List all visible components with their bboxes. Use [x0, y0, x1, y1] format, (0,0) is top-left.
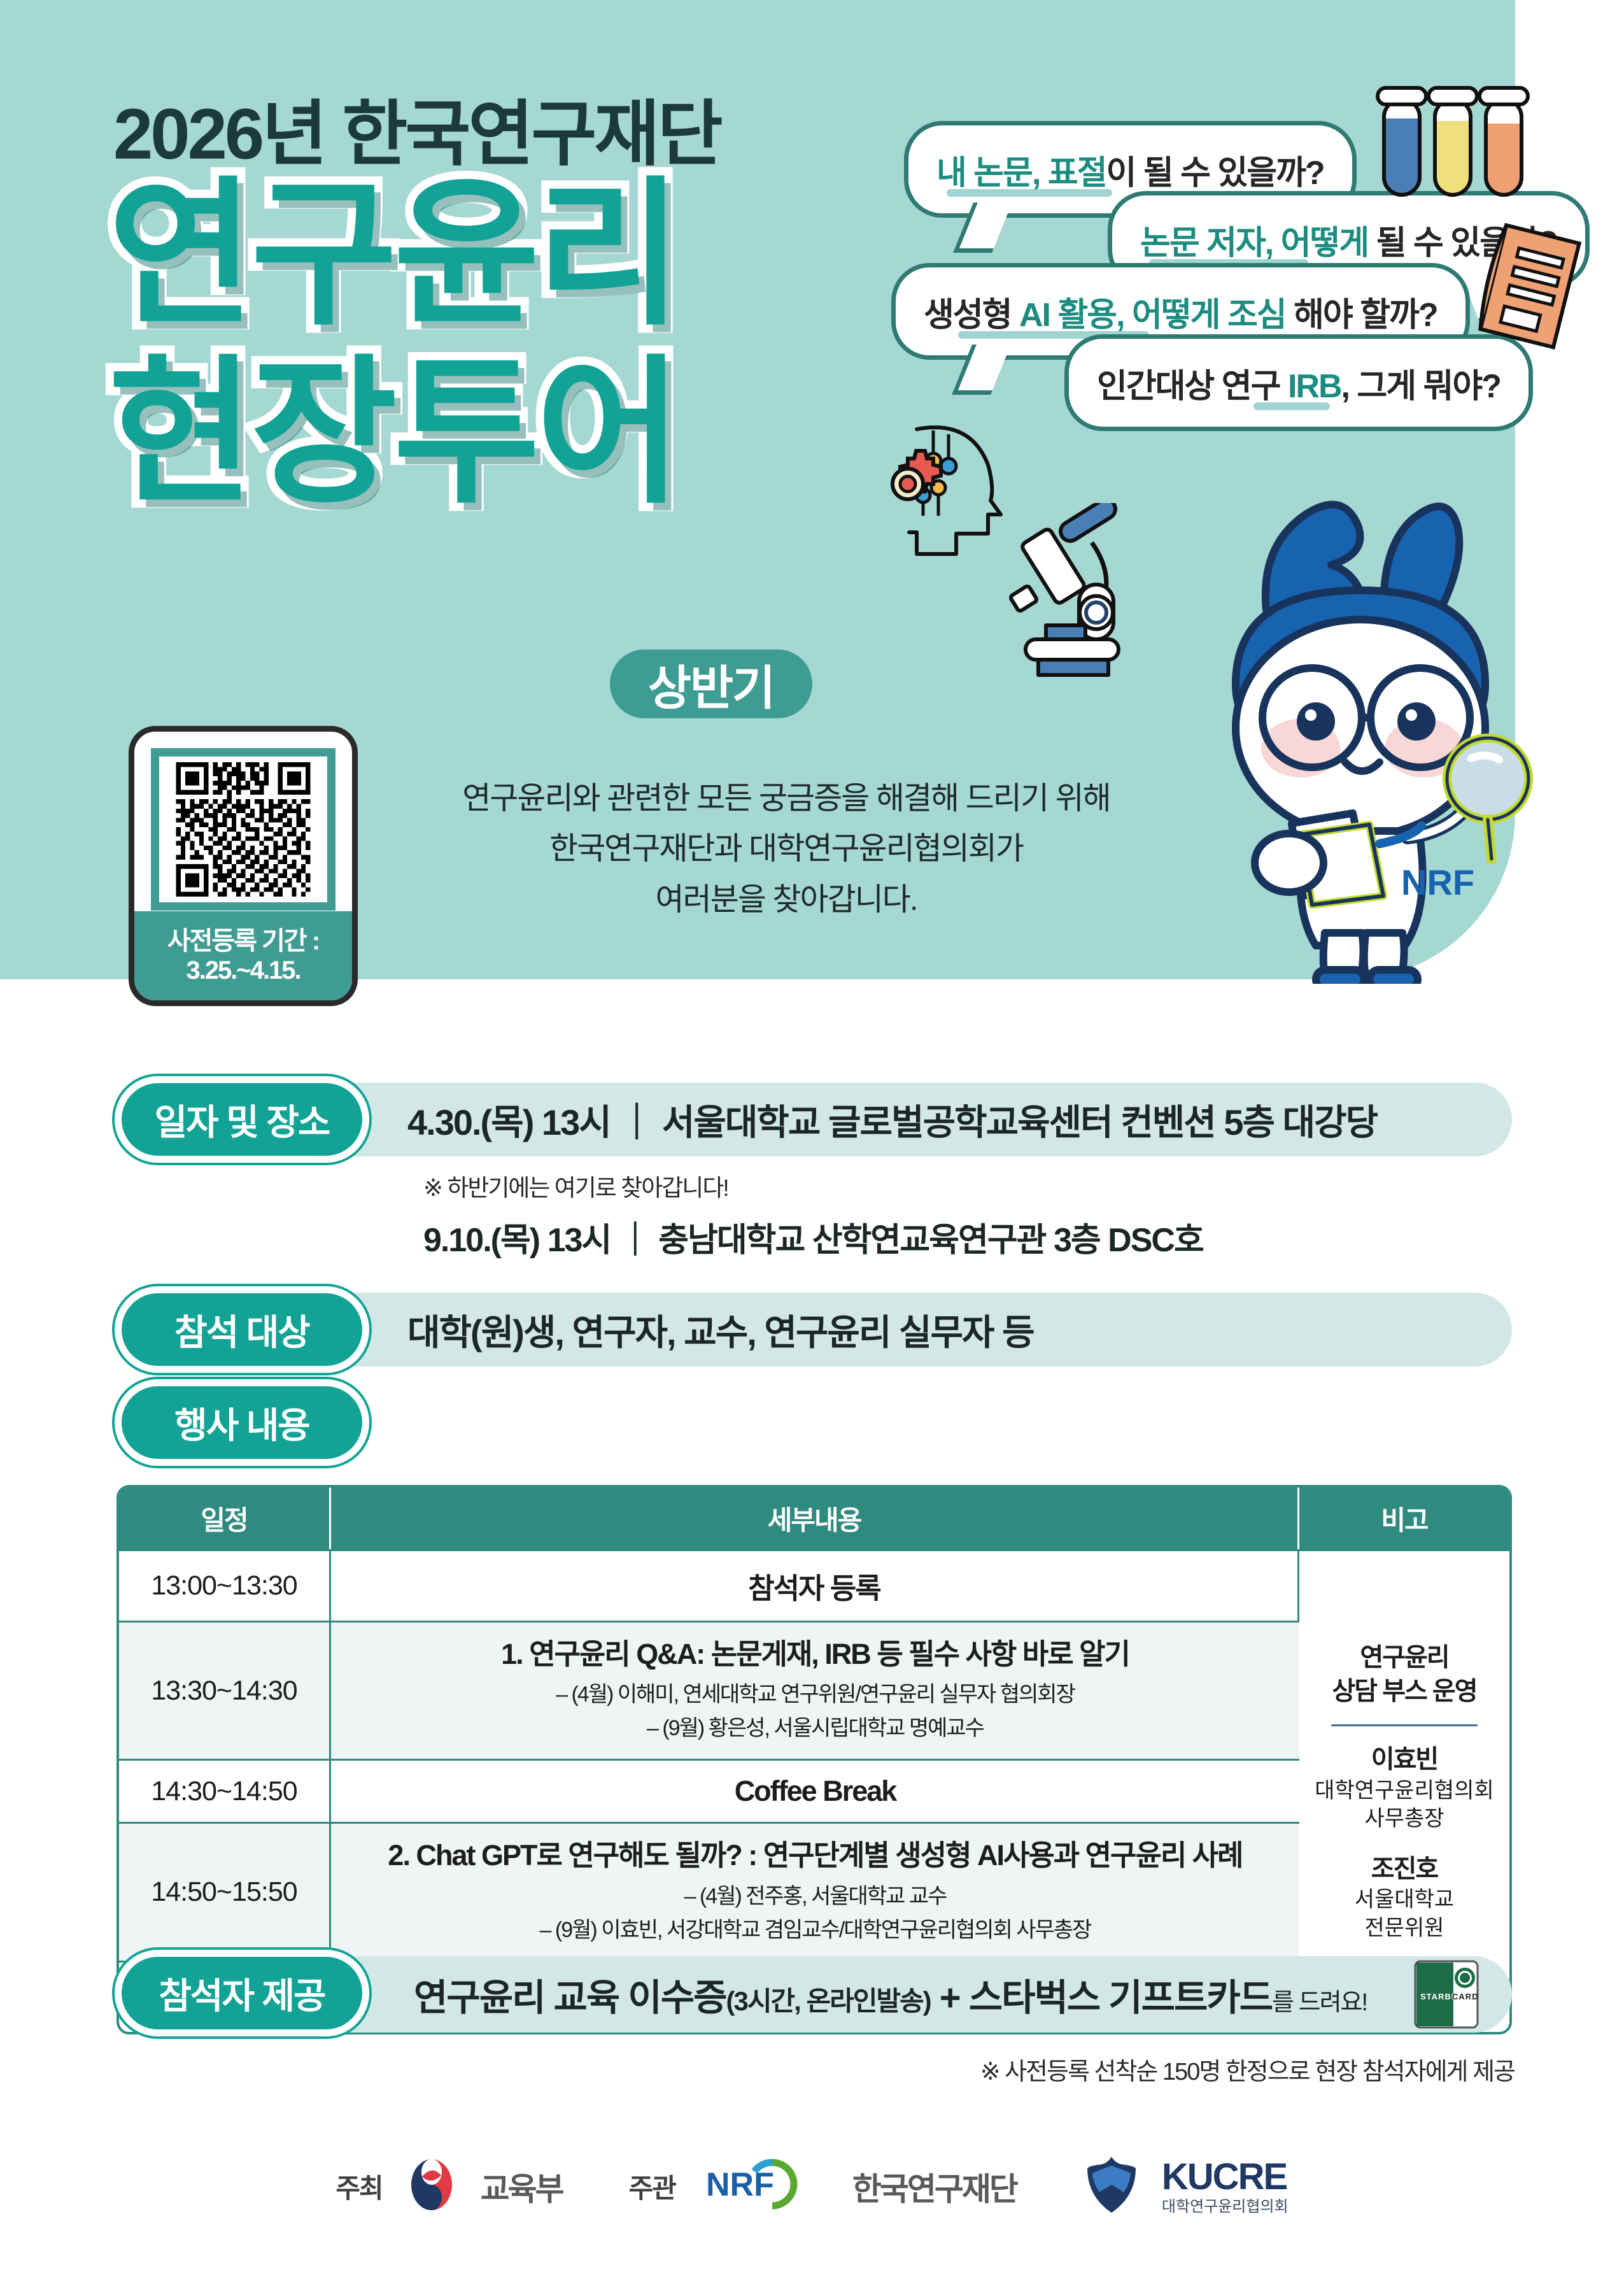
second-half-note-block: ※ 하반기에는 여기로 찾아갑니다! 9.10.(목) 13시 ｜ 충남대학교 … — [423, 1168, 1203, 1261]
row-0-time: 13:00~13:30 — [119, 1549, 331, 1621]
row-2-detail: Coffee Break — [331, 1759, 1299, 1822]
row-3-title: 2. Chat GPT로 연구해도 될까? : 연구단계별 생성형 AI사용과 … — [337, 1838, 1293, 1873]
qr-code-image[interactable] — [151, 748, 335, 911]
remarks-person-1-org: 대학연구윤리협의회 — [1306, 1777, 1503, 1805]
test-tubes-icon — [1369, 83, 1541, 213]
row-1-time: 13:30~14:30 — [119, 1621, 331, 1759]
footer-logos: 주최 교육부 주관 NRF 한국연구재단 KUCRE 대학연구윤리협의회 — [0, 2155, 1624, 2217]
bubble-3-rest: 해야 할까? — [1286, 297, 1437, 334]
gift-footnote: ※ 사전등록 선착순 150명 한정으로 현장 참석자에게 제공 — [980, 2052, 1515, 2087]
kucre-name: KUCRE — [1162, 2159, 1287, 2196]
row-2-time: 14:30~14:50 — [119, 1759, 331, 1822]
bubble-1-highlight: 내 논문, 표절 — [936, 155, 1106, 192]
date-place-row: 일자 및 장소 4.30.(목) 13시 ｜ 서울대학교 글로벌공학교육센터 컨… — [115, 1083, 1512, 1156]
row-0-title: 참석자 등록 — [337, 1565, 1291, 1607]
row-3-time: 14:50~15:50 — [119, 1822, 331, 1960]
row-1-detail: 1. 연구윤리 Q&A: 논문게재, IRB 등 필수 사항 바로 알기 – (… — [331, 1621, 1299, 1759]
registration-period-caption: 사전등록 기간 : 3.25.~4.15. — [134, 911, 352, 1000]
bubble-4-rest: , 그게 뭐야? — [1341, 368, 1500, 405]
moe-logo-icon — [404, 2157, 459, 2215]
document-icon — [1471, 223, 1592, 353]
audience-label: 참석 대상 — [115, 1286, 369, 1373]
bubble-3-pre: 생성형 — [924, 297, 1019, 334]
table-header-row: 일정 세부내용 비고 — [119, 1487, 1509, 1549]
starbucks-card-icon: STARBUCKS CARD — [1414, 1960, 1479, 2032]
date-place-band: 일자 및 장소 4.30.(목) 13시 ｜ 서울대학교 글로벌공학교육센터 컨… — [115, 1083, 1512, 1156]
bubble-3-highlight: AI 활용, 어떻게 조심 — [1019, 297, 1286, 334]
audience-value: 대학(원)생, 연구자, 교수, 연구윤리 실무자 등 — [407, 1304, 1034, 1356]
bubble-4-highlight: IRB — [1288, 368, 1341, 405]
kucre-shield-icon — [1083, 2155, 1140, 2217]
mascot-coat-logo: NRF — [1401, 862, 1474, 902]
remarks-person-2-role: 전문위원 — [1306, 1914, 1503, 1942]
gift-paren: (3시간, 온라인발송) — [726, 1986, 930, 2016]
table-row: 13:00~13:30 참석자 등록 연구윤리 상담 부스 운영 이효빈 대학연… — [119, 1549, 1509, 1621]
kucre-logo-text: KUCRE 대학연구윤리협의회 — [1162, 2159, 1289, 2215]
kucre-subtitle: 대학연구윤리협의회 — [1162, 2199, 1289, 2215]
gift-text: 연구윤리 교육 이수증(3시간, 온라인발송) + 스타벅스 기프트카드를 드려… — [414, 1968, 1367, 2021]
registration-period-dates: 3.25.~4.15. — [186, 956, 300, 985]
second-half-note-label: ※ 하반기에는 여기로 찾아갑니다! — [423, 1168, 1203, 1203]
audience-band: 참석 대상 대학(원)생, 연구자, 교수, 연구윤리 실무자 등 — [115, 1293, 1512, 1367]
remarks-person-2-org: 서울대학교 — [1306, 1885, 1503, 1913]
row-3-sub-1: – (9월) 이효빈, 서강대학교 겸임교수/대학연구윤리협의회 사무총장 — [337, 1914, 1293, 1947]
gift-row: 참석자 제공 연구윤리 교육 이수증(3시간, 온라인발송) + 스타벅스 기프… — [115, 1956, 1512, 2033]
row-0-detail: 참석자 등록 — [331, 1549, 1299, 1621]
remarks-divider — [1331, 1724, 1478, 1726]
intro-paragraph: 연구윤리와 관련한 모든 궁금증을 해결해 드리기 위해 한국연구재단과 대학연… — [446, 774, 1127, 925]
gift-brand: 스타벅스 기프트카드 — [969, 1977, 1272, 2019]
page-title-line1: 연구윤리 — [108, 175, 679, 334]
microscope-icon — [996, 503, 1155, 685]
page-eyebrow-title: 2026년 한국연구재단 — [113, 76, 721, 180]
qr-registration-card[interactable]: 사전등록 기간 : 3.25.~4.15. — [129, 726, 358, 1006]
remarks-booth-line2: 상담 부스 운영 — [1332, 1677, 1476, 1705]
bubble-1-rest: 이 될 수 있을까? — [1106, 155, 1324, 192]
half-year-badge: 상반기 — [610, 650, 812, 718]
col-header-time: 일정 — [119, 1487, 331, 1549]
program-label: 행사 내용 — [115, 1379, 369, 1466]
gift-main: 연구윤리 교육 이수증 — [414, 1977, 726, 2019]
remarks-person-1-role: 사무총장 — [1306, 1805, 1503, 1833]
remarks-person-2-name: 조진호 — [1371, 1855, 1437, 1883]
col-header-note: 비고 — [1299, 1487, 1509, 1549]
row-3-sub-0: – (4월) 전주홍, 서울대학교 교수 — [337, 1880, 1293, 1913]
row-3-detail: 2. Chat GPT로 연구해도 될까? : 연구단계별 생성형 AI사용과 … — [331, 1822, 1299, 1960]
bubble-4-pre: 인간대상 연구 — [1097, 368, 1288, 405]
gift-band: 참석자 제공 연구윤리 교육 이수증(3시간, 온라인발송) + 스타벅스 기프… — [115, 1956, 1512, 2033]
registration-period-label: 사전등록 기간 : — [167, 927, 319, 956]
intro-line-1: 연구윤리와 관련한 모든 궁금증을 해결해 드리기 위해 — [446, 774, 1127, 824]
date-place-value: 4.30.(목) 13시 ｜ 서울대학교 글로벌공학교육센터 컨벤션 5층 대강… — [407, 1094, 1377, 1146]
date-place-label: 일자 및 장소 — [115, 1076, 369, 1163]
remarks-person-1: 이효빈 — [1306, 1743, 1503, 1777]
organizer-label: 주관 — [629, 2167, 675, 2206]
nrf-logo-icon: NRF — [697, 2156, 831, 2217]
row-2-title: Coffee Break — [337, 1775, 1293, 1808]
col-header-detail: 세부내용 — [331, 1487, 1299, 1549]
nrf-abbr: NRF — [706, 2166, 774, 2203]
bubble-2-highlight: 논문 저자, 어떻게 — [1140, 225, 1368, 262]
nrf-mascot-character: NRF — [1175, 474, 1582, 987]
gift-label: 참석자 제공 — [115, 1950, 369, 2036]
starbucks-card-right-text: CARD — [1452, 1992, 1479, 2001]
intro-line-3: 여러분을 찾아갑니다. — [446, 875, 1127, 925]
remarks-booth: 연구윤리 상담 부스 운영 — [1306, 1641, 1503, 1708]
host-label: 주최 — [335, 2167, 382, 2206]
page-title-line2: 현장투어 — [108, 353, 679, 513]
gift-plus: + — [931, 1977, 969, 2019]
host-name: 교육부 — [481, 2164, 563, 2210]
intro-line-2: 한국연구재단과 대학연구윤리협의회가 — [446, 824, 1127, 874]
row-1-title: 1. 연구윤리 Q&A: 논문게재, IRB 등 필수 사항 바로 알기 — [337, 1636, 1293, 1672]
bubble-1-underline — [947, 189, 1112, 197]
second-half-note-value: 9.10.(목) 13시 ｜ 충남대학교 산학연교육연구관 3층 DSC호 — [423, 1213, 1203, 1261]
audience-row: 참석 대상 대학(원)생, 연구자, 교수, 연구윤리 실무자 등 — [115, 1293, 1512, 1367]
organizer-name: 한국연구재단 — [852, 2164, 1017, 2210]
row-1-sub-1: – (9월) 황은성, 서울시립대학교 명예교수 — [337, 1712, 1293, 1745]
bubble-4-underline — [1253, 402, 1330, 410]
row-1-sub-0: – (4월) 이해미, 연세대학교 연구위원/연구윤리 실무자 협의회장 — [337, 1679, 1293, 1711]
gift-tail: 를 드려요! — [1272, 1989, 1367, 2016]
speech-bubble-irb: 인간대상 연구 IRB, 그게 뭐야? — [1064, 334, 1533, 431]
remarks-person-1-name: 이효빈 — [1371, 1745, 1437, 1773]
remarks-person-2: 조진호 — [1306, 1852, 1503, 1886]
hero-section: 2026년 한국연구재단 연구윤리 현장투어 상반기 연구윤리와 관련한 모든 … — [0, 0, 1624, 981]
remarks-booth-line1: 연구윤리 — [1360, 1644, 1448, 1672]
